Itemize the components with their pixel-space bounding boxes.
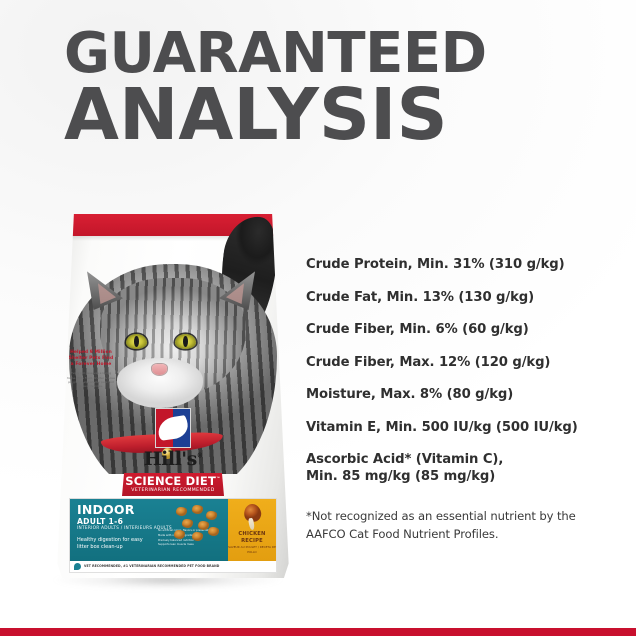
flavor-badge: CHICKEN RECIPE SAVEUR AU POULET / RECETA… bbox=[228, 499, 276, 561]
cat-eye-right bbox=[175, 334, 196, 349]
product-info-panel: INDOOR ADULT 1-6 INTERIOR ADULTS / INTER… bbox=[69, 498, 277, 562]
hills-shield-icon bbox=[155, 408, 191, 448]
brand-logo-lockup: Hill's® SCIENCE DIET™ VETERINARIAN RECOM… bbox=[122, 408, 224, 496]
analysis-row-line-two: Min. 85 mg/kg (85 mg/kg) bbox=[306, 468, 626, 485]
panel-teal-section: INDOOR ADULT 1-6 INTERIOR ADULTS / INTER… bbox=[70, 499, 228, 561]
bottom-accent-bar bbox=[0, 628, 636, 636]
shelter-badge-subtext: Every pet deserves a loving home. Hill's… bbox=[67, 371, 115, 388]
analysis-row: Crude Fat, Min. 13% (130 g/kg) bbox=[306, 289, 626, 306]
guaranteed-analysis-poster: GUARANTEED ANALYSIS bbox=[0, 0, 636, 636]
science-diet-trademark: ™ bbox=[216, 477, 221, 482]
kibble-piece bbox=[192, 505, 203, 514]
analysis-row-line-one: Ascorbic Acid* (Vitamin C), bbox=[306, 452, 503, 467]
analysis-row: Crude Fiber, Max. 12% (120 g/kg) bbox=[306, 354, 626, 371]
guaranteed-analysis-list: Crude Protein, Min. 31% (310 g/kg) Crude… bbox=[306, 256, 626, 486]
flavor-name-bilingual: SAVEUR AU POULET / RECETA DE POLLO bbox=[228, 545, 276, 554]
kibble-piece bbox=[182, 519, 193, 528]
kibble-piece bbox=[192, 532, 203, 541]
panel-footer-text: VET RECOMMENDED, #1 VETERINARIAN RECOMME… bbox=[84, 564, 219, 568]
kibble-piece bbox=[198, 521, 209, 530]
flavor-name: CHICKEN RECIPE bbox=[228, 531, 276, 544]
product-bag: Helped 9 Million Shelter Pets Find a For… bbox=[55, 214, 291, 578]
analysis-row: Moisture, Max. 8% (80 g/kg) bbox=[306, 386, 626, 403]
cat-eye-left bbox=[126, 334, 147, 349]
science-diet-text-row: SCIENCE DIET™ bbox=[124, 476, 222, 488]
vet-recommended-icon bbox=[74, 563, 81, 570]
chicken-drumstick-icon bbox=[242, 504, 262, 530]
brand-word-text: Hill's bbox=[144, 448, 197, 470]
panel-claim-text: Healthy digestion for easy litter box cl… bbox=[77, 537, 151, 552]
analysis-row: Ascorbic Acid* (Vitamin C), Min. 85 mg/k… bbox=[306, 451, 626, 485]
product-bag-image: Helped 9 Million Shelter Pets Find a For… bbox=[44, 214, 294, 614]
kibble-illustration bbox=[172, 505, 224, 543]
science-diet-text: SCIENCE DIET bbox=[125, 474, 216, 488]
title-line-two: ANALYSIS bbox=[64, 82, 604, 147]
cat-pupil-right bbox=[183, 336, 188, 347]
kibble-piece bbox=[174, 530, 185, 539]
footnote-text: *Not recognized as an essential nutrient… bbox=[306, 508, 606, 543]
brand-wordmark: Hill's® bbox=[122, 450, 224, 470]
analysis-row: Crude Protein, Min. 31% (310 g/kg) bbox=[306, 256, 626, 273]
kibble-piece bbox=[206, 511, 217, 520]
analysis-row: Vitamin E, Min. 500 IU/kg (500 IU/kg) bbox=[306, 419, 626, 436]
panel-footer-strip: VET RECOMMENDED, #1 VETERINARIAN RECOMME… bbox=[69, 561, 277, 573]
kibble-piece bbox=[208, 527, 219, 536]
vet-recommended-text: VETERINARIAN RECOMMENDED bbox=[124, 489, 222, 494]
shelter-program-badge: Helped 9 Million Shelter Pets Find a For… bbox=[67, 350, 115, 389]
analysis-row: Crude Fiber, Min. 6% (60 g/kg) bbox=[306, 321, 626, 338]
science-diet-banner: SCIENCE DIET™ VETERINARIAN RECOMMENDED bbox=[122, 473, 224, 496]
page-title: GUARANTEED ANALYSIS bbox=[64, 28, 604, 147]
title-line-one: GUARANTEED bbox=[64, 28, 604, 80]
shelter-badge-headline: Helped 9 Million Shelter Pets Find a For… bbox=[67, 350, 115, 368]
brand-trademark: ® bbox=[197, 453, 203, 460]
panel-bullet: Supports lean muscle mass bbox=[158, 543, 214, 548]
cat-pupil-left bbox=[134, 336, 139, 347]
kibble-piece bbox=[176, 507, 187, 516]
